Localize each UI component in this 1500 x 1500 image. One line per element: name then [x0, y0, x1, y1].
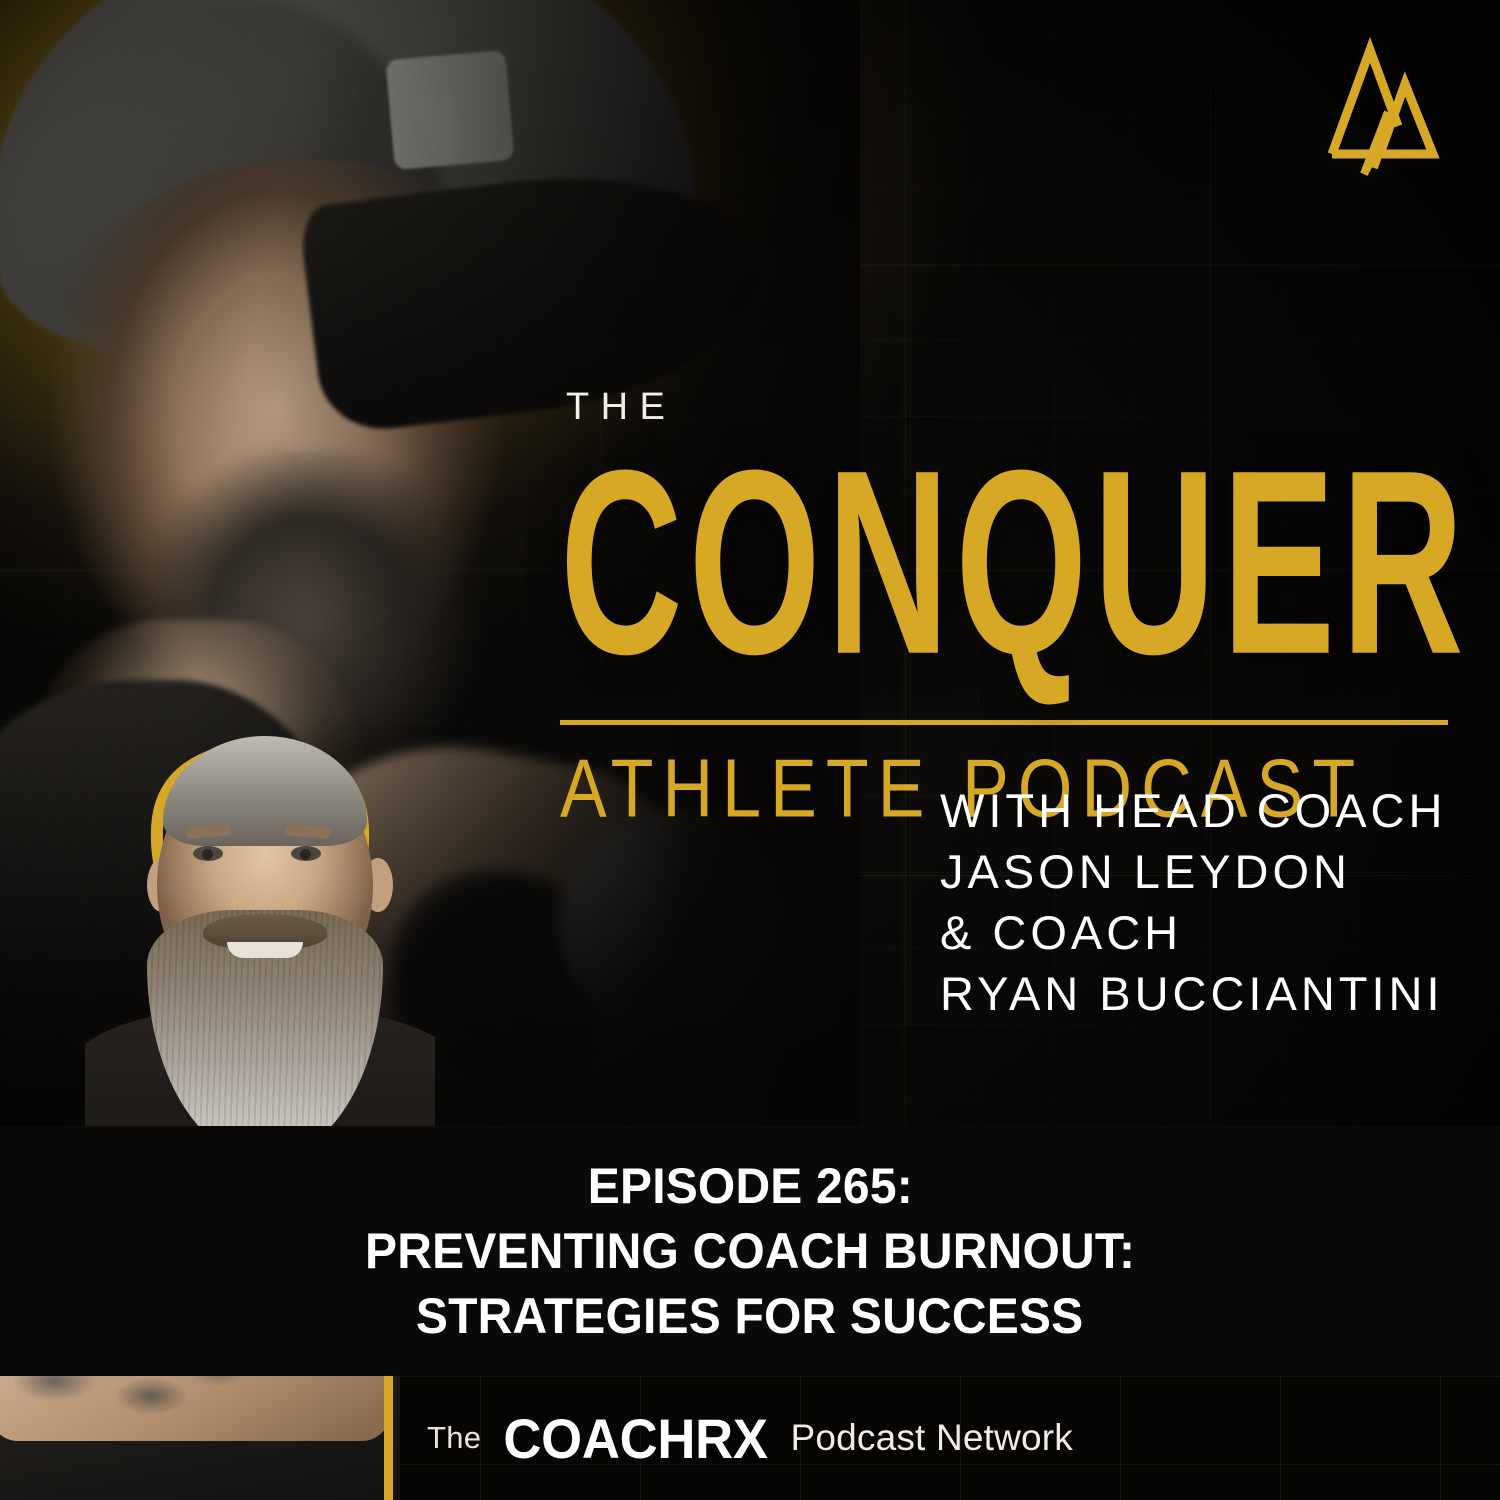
hosts-line-3: & COACH — [940, 902, 1470, 963]
tattoo-texture — [0, 1376, 250, 1436]
footer-network-label: Podcast Network — [791, 1417, 1073, 1459]
episode-title-banner: EPISODE 265: PREVENTING COACH BURNOUT: S… — [0, 1126, 1500, 1376]
show-title-block: THE CONQUER ATHLETE PODCAST — [560, 388, 1465, 817]
hosts-line-1: WITH HEAD COACH — [940, 780, 1470, 841]
hosts-line-4: RYAN BUCCIANTINI — [940, 963, 1470, 1024]
episode-title-line-2: STRATEGIES FOR SUCCESS — [416, 1284, 1083, 1349]
episode-number-line: EPISODE 265: — [587, 1154, 912, 1219]
episode-title-line-1: PREVENTING COACH BURNOUT: — [365, 1219, 1135, 1284]
host-portrait-lower-body — [0, 1376, 430, 1500]
host-portrait-image — [85, 718, 435, 1188]
title-divider-rule — [560, 720, 1448, 725]
show-wordmark: CONQUER — [560, 442, 1356, 683]
hosts-credit-block: WITH HEAD COACH JASON LEYDON & COACH RYA… — [940, 780, 1470, 1024]
host-portrait-cutout — [75, 710, 445, 1190]
conquer-logo-icon — [1302, 36, 1452, 176]
footer-the-label: The — [427, 1420, 481, 1456]
podcast-cover-art: THE CONQUER ATHLETE PODCAST WITH HEAD CO… — [0, 0, 1500, 1500]
coachrx-wordmark: COACHRX — [504, 1406, 768, 1471]
hosts-line-2: JASON LEYDON — [940, 841, 1470, 902]
